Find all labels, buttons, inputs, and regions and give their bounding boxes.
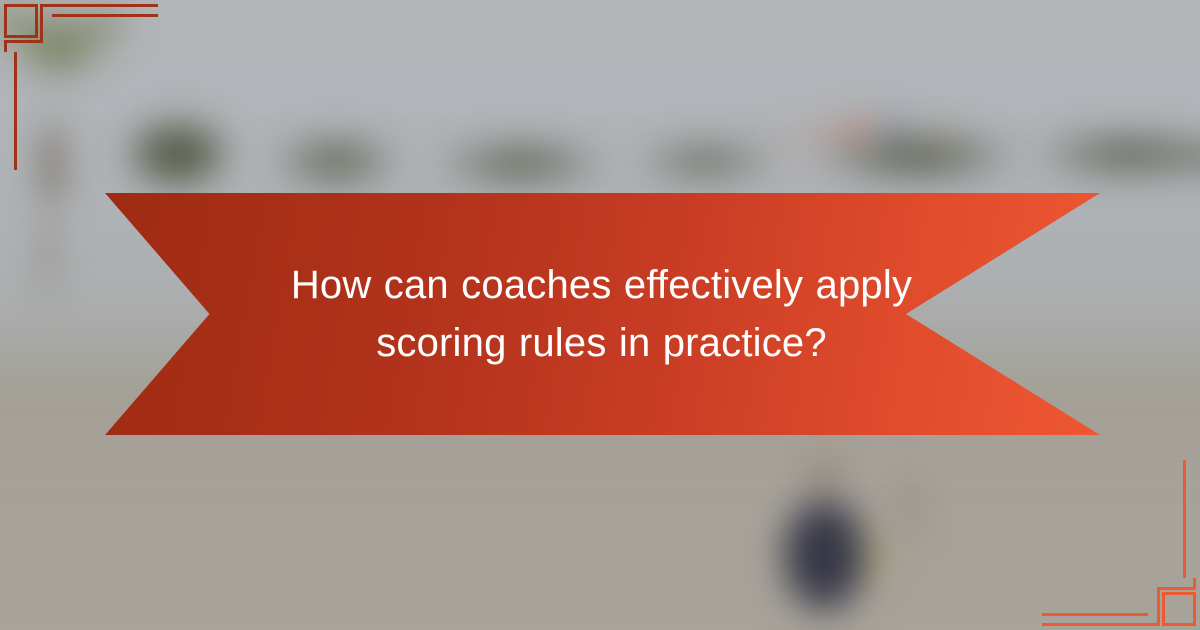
- corner-bracket-top-left: [0, 0, 160, 90]
- social-card-canvas: How can coaches effectively apply scorin…: [0, 0, 1200, 630]
- corner-bracket-vertical: [1157, 590, 1160, 626]
- corner-elbow-horizontal: [1157, 587, 1196, 590]
- headline-text-block: How can coaches effectively apply scorin…: [229, 256, 974, 373]
- corner-elbow-horizontal: [4, 40, 43, 43]
- corner-bracket-horizontal: [1042, 623, 1160, 626]
- corner-elbow-vertical: [4, 40, 7, 52]
- corner-bracket-bottom-right: [1040, 540, 1200, 630]
- corner-bracket-vertical: [40, 4, 43, 40]
- corner-long-vertical-rule: [1183, 460, 1186, 578]
- corner-square-icon: [1162, 592, 1196, 626]
- corner-bracket-horizontal: [40, 4, 158, 7]
- corner-second-rule: [52, 14, 158, 17]
- page-title: How can coaches effectively apply scorin…: [229, 256, 974, 373]
- corner-square-icon: [4, 4, 38, 38]
- corner-long-vertical-rule: [14, 52, 17, 170]
- corner-elbow-vertical: [1193, 578, 1196, 590]
- corner-second-rule: [1042, 613, 1148, 616]
